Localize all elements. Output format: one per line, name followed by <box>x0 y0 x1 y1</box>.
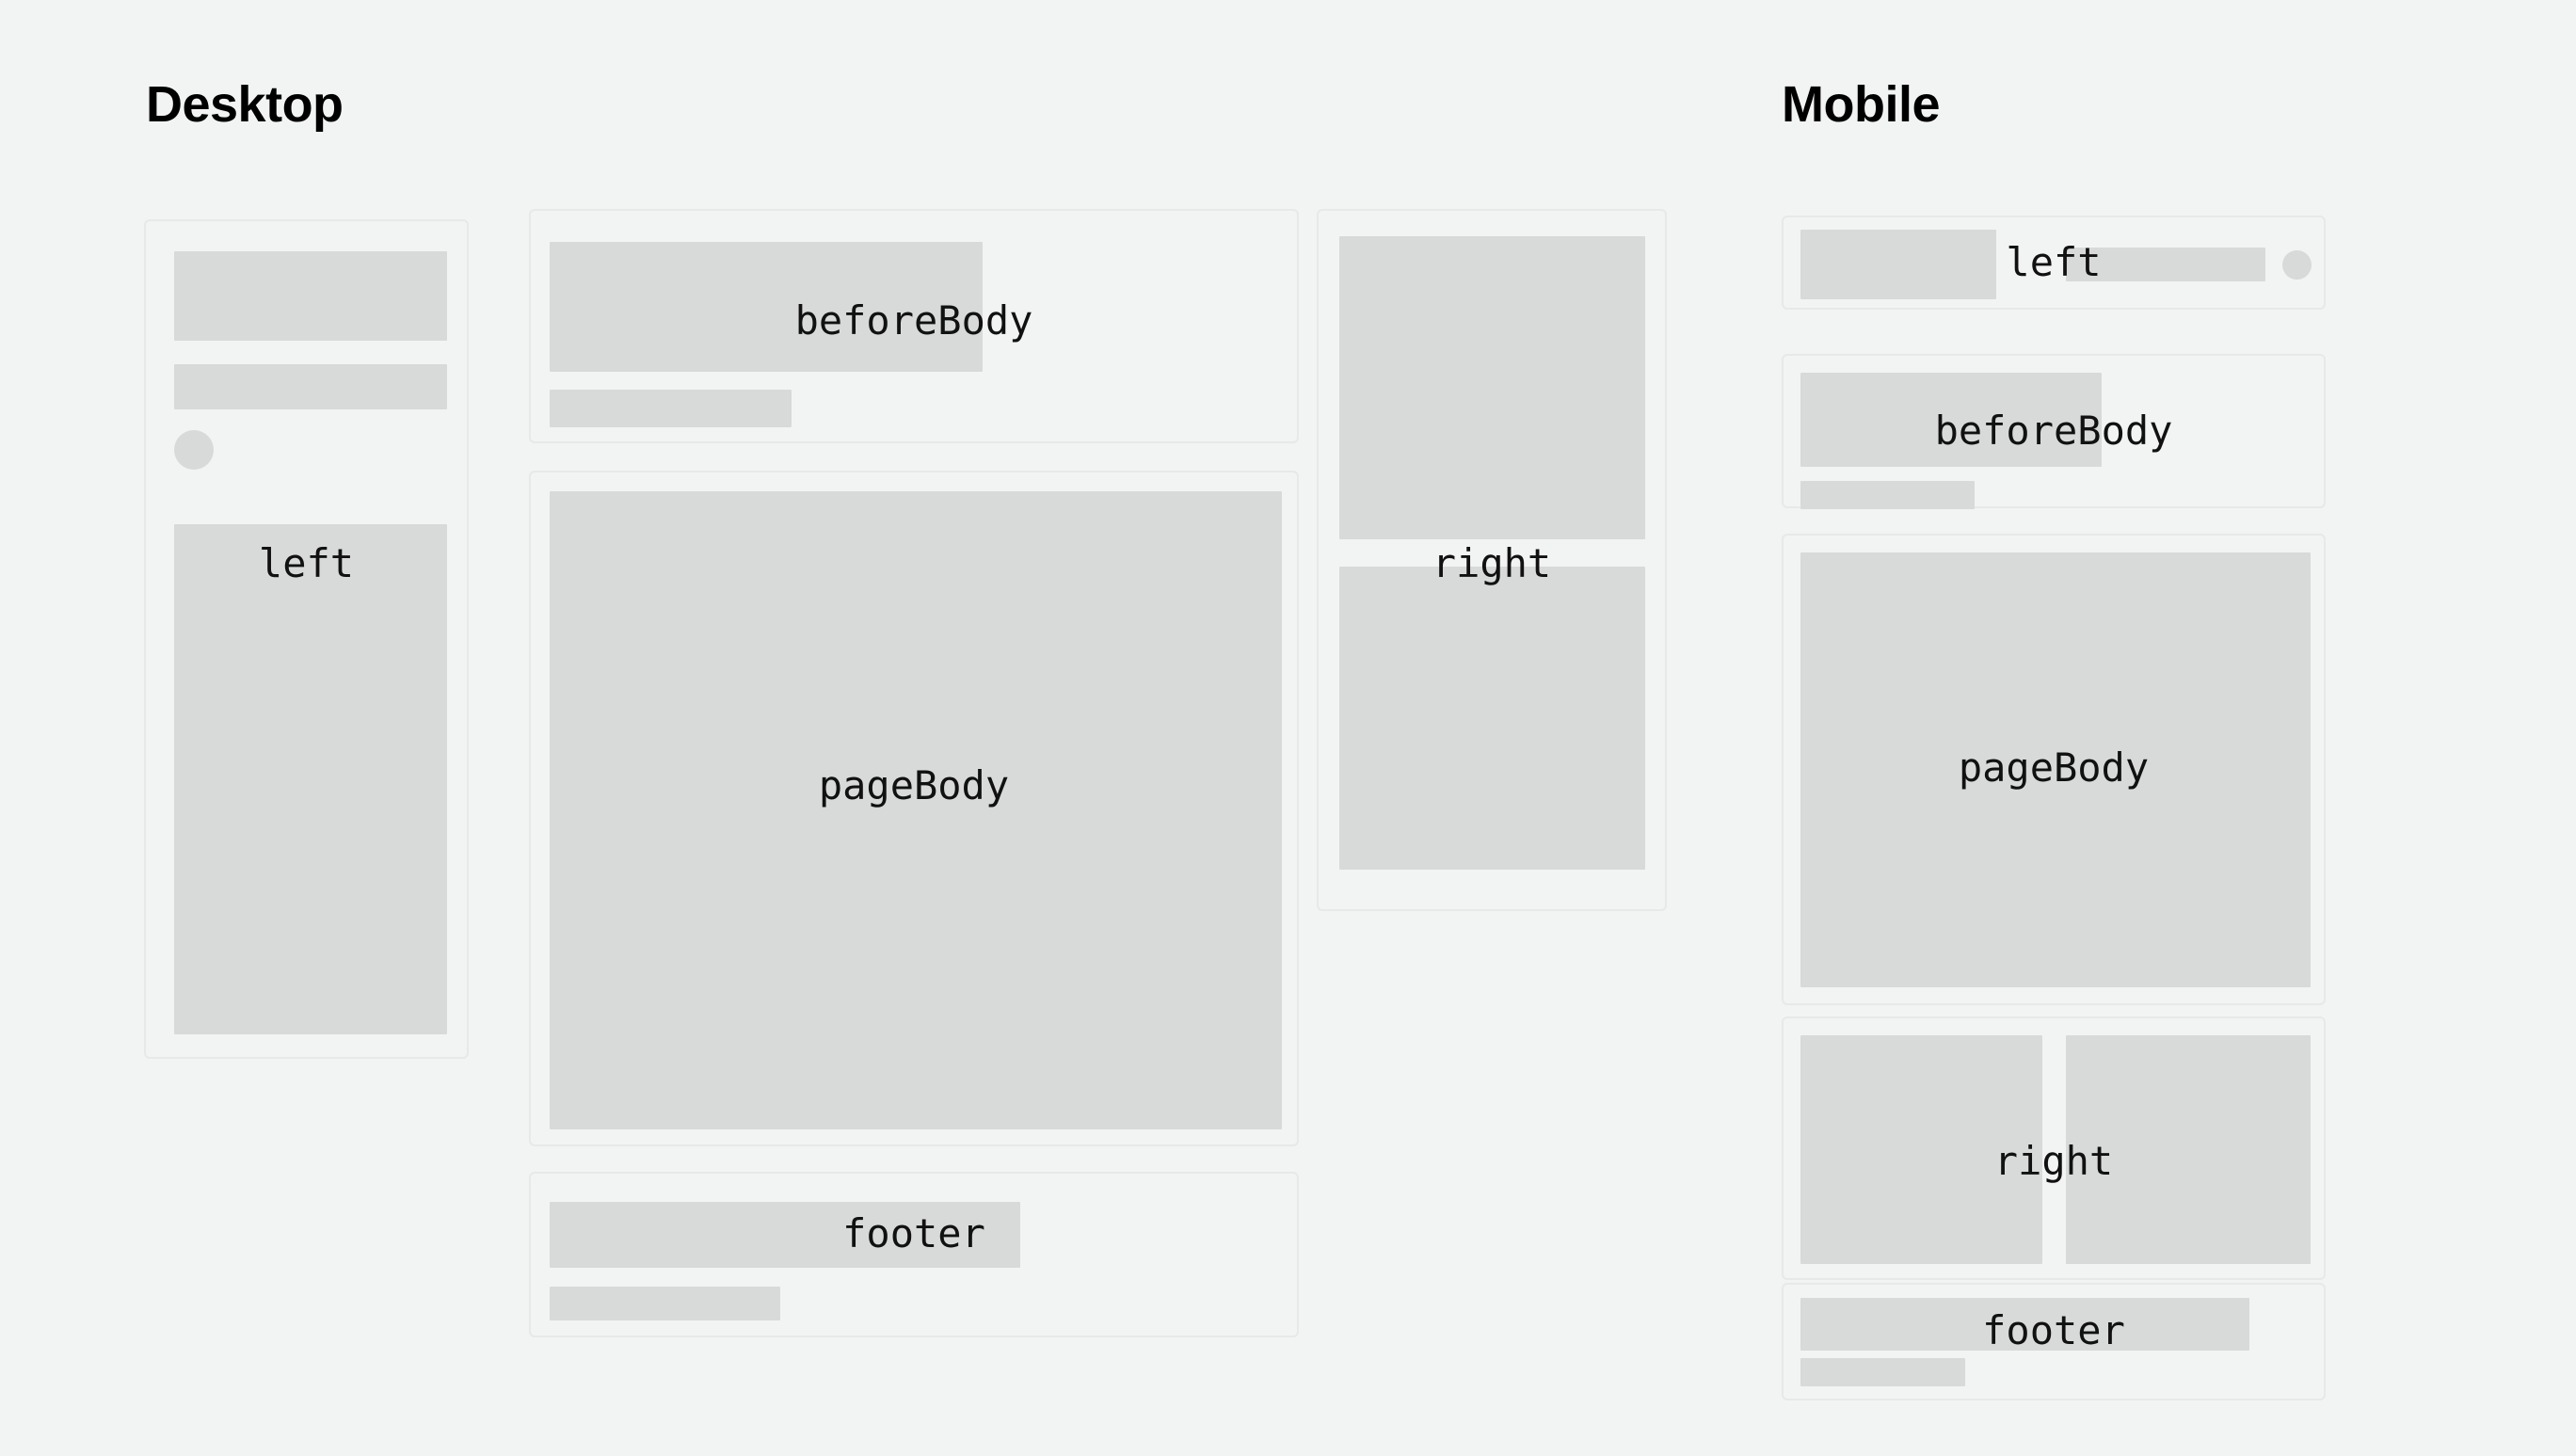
skeleton-bar <box>550 390 792 427</box>
mobile-region-right[interactable] <box>1782 1016 2326 1280</box>
skeleton-block <box>1339 236 1645 539</box>
mobile-region-pagebody[interactable] <box>1782 534 2326 1005</box>
skeleton-block <box>550 242 983 372</box>
mobile-region-left[interactable] <box>1782 216 2326 310</box>
skeleton-avatar-circle <box>2282 250 2312 280</box>
skeleton-block <box>174 251 447 341</box>
skeleton-block <box>2066 1035 2311 1264</box>
skeleton-block <box>1800 1298 2249 1351</box>
desktop-region-beforebody[interactable] <box>529 209 1299 443</box>
desktop-region-pagebody[interactable] <box>529 471 1299 1146</box>
skeleton-block <box>1800 1035 2042 1264</box>
skeleton-bar <box>2066 248 2265 281</box>
skeleton-bar <box>1800 481 1975 509</box>
layout-preview-canvas: Desktop left beforeBody pageBody right f… <box>0 0 2576 1456</box>
skeleton-block <box>550 1202 1020 1268</box>
skeleton-bar <box>1800 1358 1965 1386</box>
desktop-region-right[interactable] <box>1317 209 1667 911</box>
skeleton-bar <box>174 364 447 409</box>
mobile-region-beforebody[interactable] <box>1782 354 2326 508</box>
desktop-region-left[interactable] <box>144 219 469 1059</box>
skeleton-block <box>1800 230 1996 299</box>
skeleton-block <box>1800 552 2311 987</box>
mobile-section-title: Mobile <box>1782 79 1940 130</box>
desktop-section-title: Desktop <box>146 79 344 130</box>
mobile-region-footer[interactable] <box>1782 1283 2326 1400</box>
skeleton-block <box>1800 373 2102 467</box>
skeleton-avatar-circle <box>174 430 214 470</box>
skeleton-bar <box>550 1287 780 1320</box>
desktop-region-footer[interactable] <box>529 1172 1299 1337</box>
skeleton-block <box>550 491 1282 1129</box>
skeleton-block <box>174 524 447 1034</box>
skeleton-block <box>1339 567 1645 870</box>
